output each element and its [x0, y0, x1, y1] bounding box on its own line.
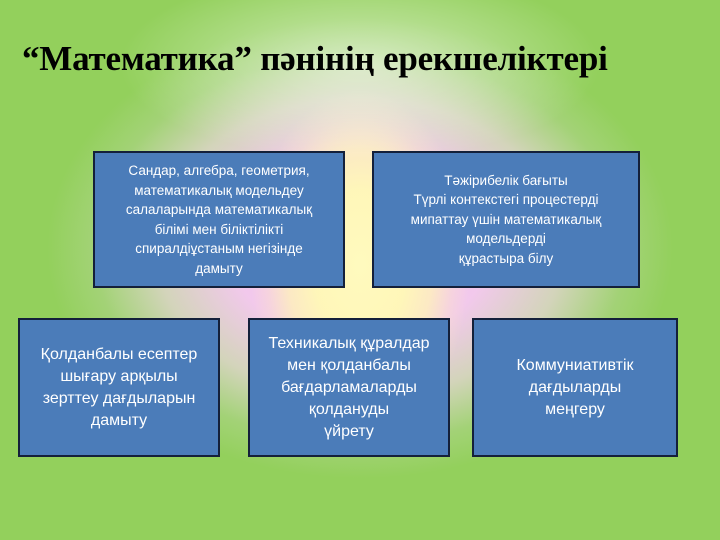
slide-title: “Математика” пәнінің ерекшеліктері [22, 38, 698, 80]
content-box-text: Тәжірибелік бағыты Түрлі контекстегі про… [380, 171, 632, 269]
content-box-bottom-left: Қолданбалы есептер шығару арқылы зерттеу… [18, 318, 220, 457]
content-box-text: Коммуниативтік дағдыларды меңгеру [480, 355, 670, 421]
slide-canvas: “Математика” пәнінің ерекшеліктері Санда… [0, 0, 720, 540]
content-box-text: Техникалық құралдар мен қолданбалы бағда… [256, 333, 442, 443]
content-box-text: Сандар, алгебра, геометрия, математикалы… [101, 161, 337, 278]
content-box-text: Қолданбалы есептер шығару арқылы зерттеу… [26, 344, 212, 432]
content-box-bottom-right: Коммуниативтік дағдыларды меңгеру [472, 318, 678, 457]
content-box-top-right: Тәжірибелік бағыты Түрлі контекстегі про… [372, 151, 640, 288]
content-box-top-left: Сандар, алгебра, геометрия, математикалы… [93, 151, 345, 288]
content-box-bottom-center: Техникалық құралдар мен қолданбалы бағда… [248, 318, 450, 457]
